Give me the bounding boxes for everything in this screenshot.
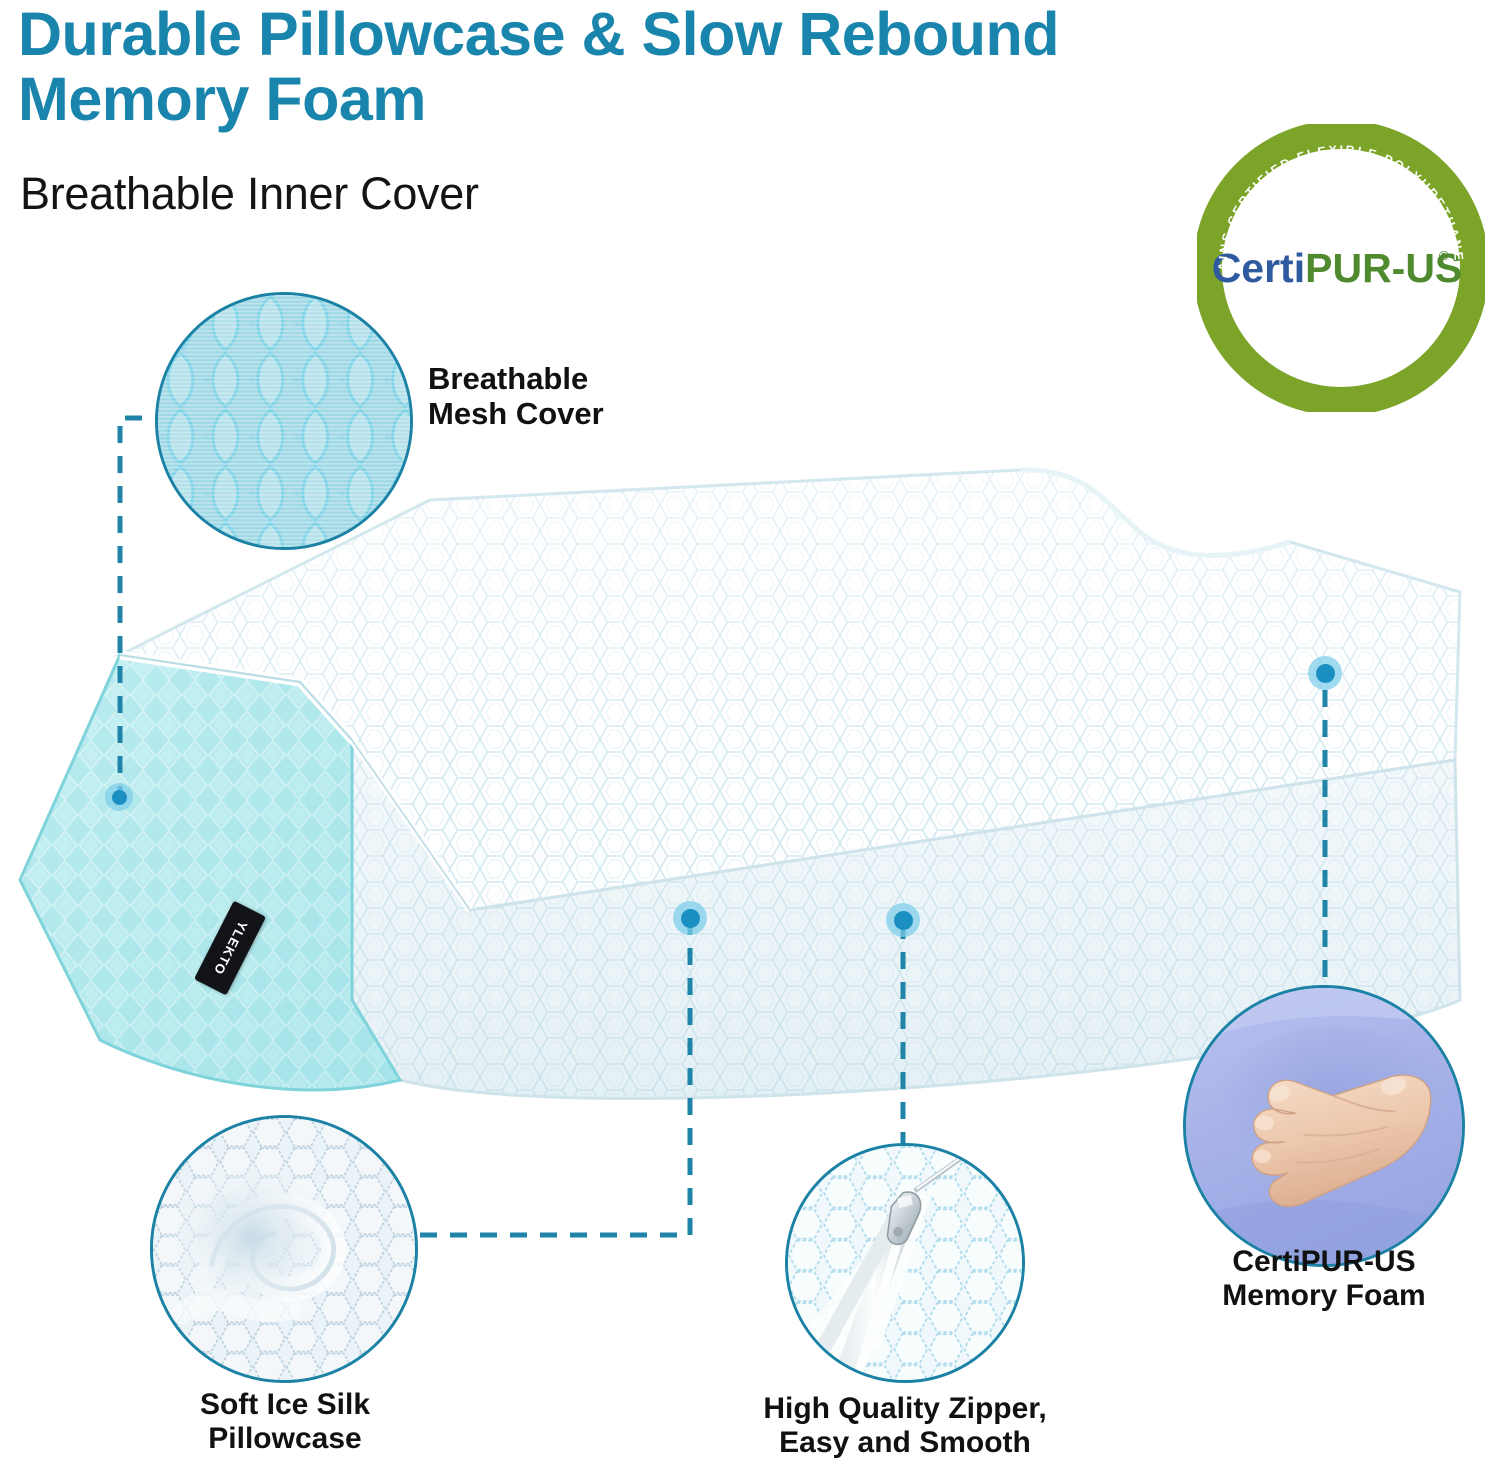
callout-label-high-quality-zipper: High Quality Zipper, Easy and Smooth (690, 1392, 1120, 1459)
marker-dot-soft-ice-silk[interactable] (673, 901, 707, 935)
marker-dot-breathable-mesh-cover[interactable] (105, 783, 133, 811)
callout-label-soft-ice-silk: Soft Ice Silk Pillowcase (120, 1388, 450, 1455)
mesh-cover-swatch (155, 292, 413, 550)
hand-pressing-foam-swatch (1183, 985, 1465, 1267)
callout-label-breathable-mesh-cover: Breathable Mesh Cover (428, 362, 604, 431)
callout-breathable-mesh-cover (155, 292, 413, 550)
callout-label-certipur-memory-foam: CertiPUR-US Memory Foam (1168, 1245, 1480, 1312)
marker-dot-high-quality-zipper[interactable] (886, 903, 920, 937)
svg-text:CertiPUR-US: CertiPUR-US (1212, 245, 1463, 291)
zipper-swatch (785, 1143, 1025, 1383)
infographic-canvas: Durable Pillowcase & Slow Rebound Memory… (0, 0, 1489, 1476)
svg-text:®: ® (1439, 248, 1449, 263)
ice-silk-swatch (150, 1115, 418, 1383)
page-title: Durable Pillowcase & Slow Rebound Memory… (18, 2, 1198, 133)
callout-certipur-memory-foam (1183, 985, 1465, 1267)
page-subtitle: Breathable Inner Cover (20, 168, 479, 220)
callout-high-quality-zipper (785, 1143, 1025, 1383)
marker-dot-certipur-memory-foam[interactable] (1308, 656, 1342, 690)
callout-soft-ice-silk (150, 1115, 418, 1383)
certipur-us-badge: CertiPUR-US ® CONTAINS CERTIFIED FLEXIBL… (1197, 124, 1485, 412)
